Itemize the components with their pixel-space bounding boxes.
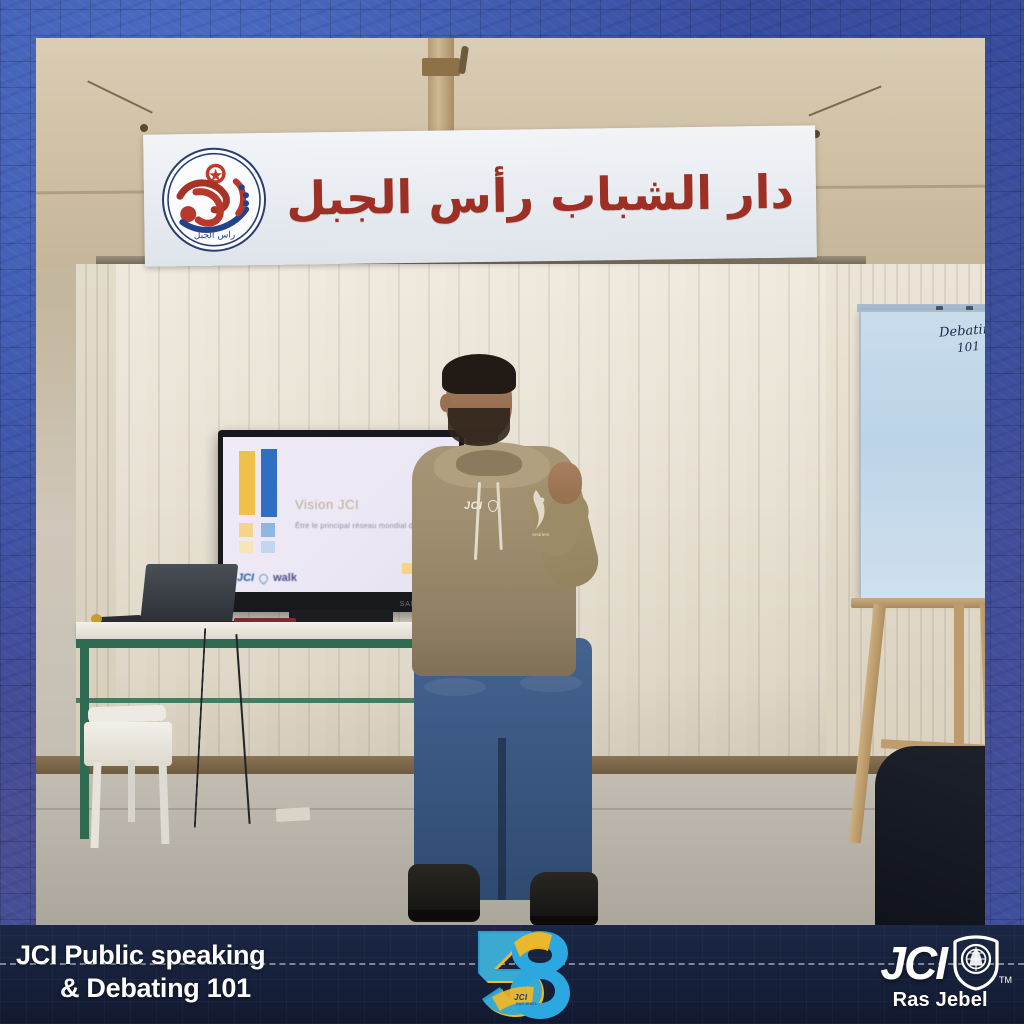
event-title: JCI Public speaking & Debating 101 — [16, 939, 376, 1005]
anniversary-38-mark — [462, 927, 574, 1023]
speaker-beard — [448, 408, 510, 446]
anniversary-jci-label: JCI — [514, 993, 527, 1002]
footer-band: JCI Public speaking & Debating 101 JCI R… — [0, 925, 1024, 1024]
speaker: JCI emblem — [36, 38, 985, 926]
anniversary-38-logo: JCI RAS JEBEL — [462, 927, 574, 1023]
hoodie-emblem-text: emblem — [512, 532, 570, 537]
speaker-hair — [442, 354, 516, 394]
speaker-knee-right — [520, 674, 582, 692]
foreground-dark-object — [875, 746, 985, 926]
speaker-hood-inner — [456, 450, 522, 476]
event-title-line2: & Debating 101 — [16, 972, 376, 1005]
speaker-leg-gap — [498, 738, 506, 900]
event-photo: راس الجبل دار الشباب رأس الجبل Vision JC… — [36, 38, 985, 926]
speaker-shoe-sole-left — [408, 910, 480, 920]
event-title-line1: JCI Public speaking — [16, 940, 265, 970]
speaker-knee-left — [424, 678, 486, 696]
anniversary-chapter-label: RAS JEBEL — [516, 1002, 537, 1006]
hoodie-jci-logo: JCI — [464, 500, 483, 512]
trademark-symbol: TM — [999, 975, 1012, 985]
jci-wordmark: JCI — [880, 942, 946, 984]
jci-brand-row: JCI TM — [880, 935, 1000, 991]
hoodie-emblem-icon — [516, 488, 556, 534]
jci-brand-lockup: JCI TM Ras Jebel — [880, 935, 1000, 1012]
jci-shield-mark — [952, 935, 1000, 991]
jci-shield-icon: TM — [952, 935, 1000, 991]
jci-chapter-name: Ras Jebel — [880, 989, 1000, 1012]
